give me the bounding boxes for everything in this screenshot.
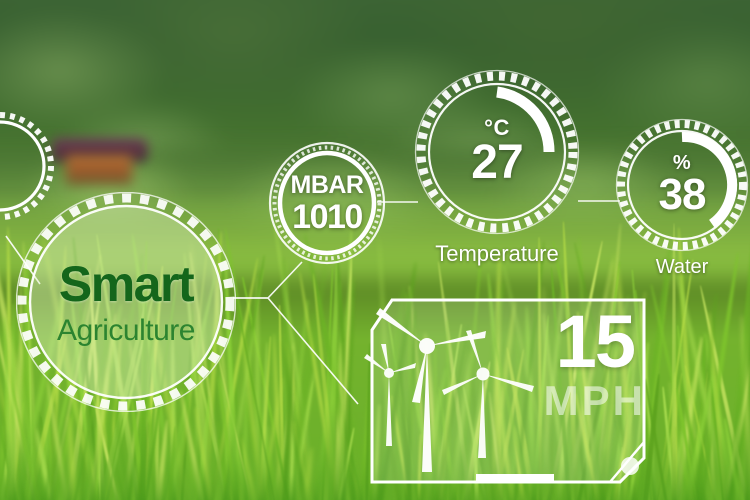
wind-panel-corner-dot <box>621 457 639 475</box>
badge-text-block: Smart Agriculture <box>16 192 236 412</box>
smart-agriculture-dashboard: Smart Agriculture MBAR 1010 °C 27 <box>0 0 750 500</box>
wind-value: 15 <box>544 308 646 376</box>
gauge-water[interactable]: % 38 Water <box>615 118 749 252</box>
temperature-label: Temperature <box>435 241 559 267</box>
wind-unit: MPH <box>544 382 646 421</box>
water-tick-ring <box>621 124 743 246</box>
pressure-inner-ring <box>280 153 374 253</box>
badge-subtitle: Agriculture <box>57 316 195 346</box>
pressure-outer-ring <box>270 143 384 263</box>
water-label: Water <box>656 256 709 279</box>
temperature-inner-ring <box>429 84 565 220</box>
water-value-arc <box>682 137 732 224</box>
pressure-tick-ring <box>275 148 380 259</box>
gauge-temperature[interactable]: °C 27 Temperature <box>414 69 580 235</box>
smart-agriculture-badge[interactable]: Smart Agriculture <box>16 192 236 412</box>
wind-readout: 15 MPH <box>544 308 646 421</box>
badge-title: Smart <box>59 259 193 309</box>
gauge-pressure[interactable]: MBAR 1010 <box>266 140 388 266</box>
wind-panel[interactable]: 15 MPH <box>358 286 658 486</box>
wind-panel-bottom-bar <box>476 474 554 483</box>
